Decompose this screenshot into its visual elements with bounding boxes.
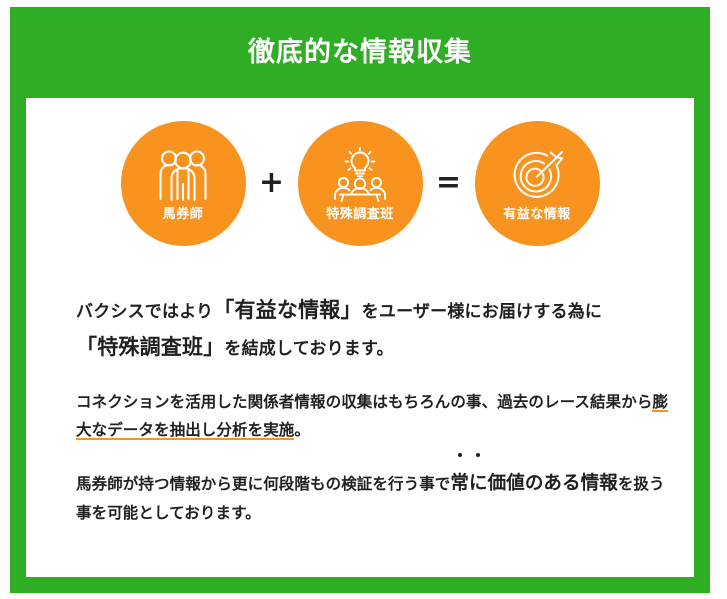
concept-diagram: 馬券師 +: [26, 113, 694, 253]
operator-plus: +: [246, 168, 298, 198]
diagram-item-label: 有益な情報: [503, 207, 571, 220]
third-emphasis-rest: 価値のある情報: [488, 472, 618, 493]
green-frame: 徹底的な情報収集: [10, 7, 710, 593]
lead-emphasis-1: 「有益な情報」: [213, 299, 361, 322]
section-title-bar: 徹底的な情報収集: [10, 7, 710, 98]
three-people-icon: [152, 147, 214, 205]
third-dotted-char-1: 常: [450, 466, 469, 500]
lead-emphasis-2: 「特殊調査班」: [76, 336, 224, 359]
body-copy: バクシスではより「有益な情報」をユーザー様にお届けする為に 「特殊調査班」を結成…: [76, 293, 676, 529]
third-text-start: 馬券師が持つ情報から更に何段階もの検証を行う事で: [76, 476, 450, 493]
second-text-start: コネクションを活用した関係者情報の収集はもちろんの事、過去のレース結果から: [76, 394, 652, 411]
page-root: 徹底的な情報収集: [0, 0, 727, 599]
lightbulb-team-meeting-icon: [329, 147, 391, 205]
paragraph-second: コネクションを活用した関係者情報の収集はもちろんの事、過去のレース結果から膨大な…: [76, 389, 676, 446]
lead-text-1: バクシスではより: [76, 302, 213, 321]
operator-equals: =: [423, 168, 475, 198]
diagram-item-label: 馬券師: [163, 207, 204, 220]
lead-text-3: を結成しております。: [224, 339, 393, 358]
target-arrow-icon: [506, 147, 568, 205]
content-panel: 馬券師 +: [26, 98, 694, 577]
diagram-item-valuable-info: 有益な情報: [475, 121, 600, 246]
paragraph-lead: バクシスではより「有益な情報」をユーザー様にお届けする為に 「特殊調査班」を結成…: [76, 293, 676, 367]
lead-text-2: をユーザー様にお届けする為に: [362, 302, 602, 321]
third-dotted-char-2: に: [469, 466, 488, 500]
diagram-item-bettors: 馬券師: [121, 121, 246, 246]
diagram-item-label: 特殊調査班: [326, 207, 394, 220]
diagram-item-special-team: 特殊調査班: [298, 121, 423, 246]
second-text-end: 。: [294, 422, 310, 439]
page-title: 徹底的な情報収集: [248, 39, 472, 66]
paragraph-third: 馬券師が持つ情報から更に何段階もの検証を行う事で常に価値のある情報を扱う事を可能…: [76, 466, 676, 529]
